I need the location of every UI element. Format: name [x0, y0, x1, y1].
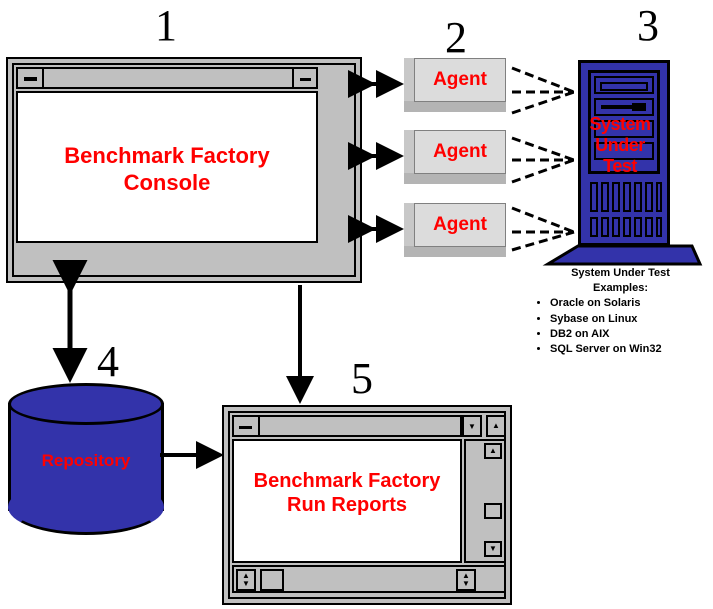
system-under-test-label: System Under Test	[574, 114, 666, 178]
scroll-up-small-icon: ▲	[489, 447, 497, 455]
reports-title-bar[interactable]	[232, 415, 462, 437]
vent-col-2b	[601, 217, 609, 237]
sut-label-line1: System	[574, 114, 666, 135]
console-minimize-button[interactable]	[292, 67, 318, 89]
vent-col-3b	[612, 217, 620, 237]
scroll-left-arrow-icon-2: ▼	[242, 580, 250, 588]
vent-col-7a	[656, 182, 662, 212]
sut-example-item: Oracle on Solaris	[550, 296, 713, 311]
agent-box-3[interactable]: Agent	[404, 203, 506, 257]
reports-dropdown-button[interactable]: ▼	[462, 415, 482, 437]
agent-box-2[interactable]: Agent	[404, 130, 506, 184]
vent-col-2a	[601, 182, 609, 212]
vent-col-1a	[590, 182, 598, 212]
sut-example-item: DB2 on AIX	[550, 327, 713, 342]
agent-1-sut-dashed-links	[512, 68, 574, 113]
reports-system-menu-button[interactable]	[232, 415, 260, 437]
repository-cylinder[interactable]: Repository	[8, 383, 164, 535]
scroll-right-arrow-icon-2: ▼	[462, 580, 470, 588]
repository-bottom-arc	[8, 479, 164, 535]
reports-scroll-up-button[interactable]: ▲	[486, 415, 506, 437]
agent-2-sut-dashed-links	[512, 138, 574, 182]
agent-2-bottom-bevel	[404, 173, 506, 184]
agent-3-sut-dashed-links	[512, 208, 574, 250]
agent-box-1[interactable]: Agent	[404, 58, 506, 112]
chevron-down-icon: ▼	[468, 422, 476, 431]
scroll-up-arrow-icon: ▲	[492, 422, 500, 430]
sut-caption-line2: Examples:	[528, 281, 713, 296]
agent-1-bottom-bevel	[404, 101, 506, 112]
step-number-1: 1	[140, 4, 192, 48]
step-number-2: 2	[430, 16, 482, 60]
reports-horizontal-scrollbar[interactable]: ▲ ▼ ▲ ▼	[232, 565, 506, 593]
reports-caption: Benchmark Factory Run Reports	[232, 469, 462, 518]
sut-label-line3: Test	[574, 156, 666, 177]
console-agent-connectors	[372, 84, 400, 229]
agent-2-label: Agent	[433, 141, 487, 163]
benchmark-factory-run-reports-window[interactable]: ▼ ▲ Benchmark Factory Run Reports ▲ ▼ ▲	[222, 405, 512, 605]
agent-1-label: Agent	[433, 69, 487, 91]
vent-col-5b	[634, 217, 642, 237]
sut-caption-line1: System Under Test	[528, 266, 713, 281]
reports-caption-line1: Benchmark Factory	[232, 469, 462, 493]
vent-col-6b	[645, 217, 653, 237]
console-caption-line2: Console	[16, 170, 318, 197]
vent-col-4a	[623, 182, 631, 212]
hscroll-thumb[interactable]	[260, 569, 284, 591]
step-number-3: 3	[622, 4, 674, 48]
hscroll-left-button[interactable]: ▲ ▼	[236, 569, 256, 591]
step-number-5: 5	[336, 357, 388, 401]
vscroll-down-small-button[interactable]: ▼	[484, 541, 502, 557]
agent-3-bottom-bevel	[404, 246, 506, 257]
console-caption-line1: Benchmark Factory	[16, 143, 318, 170]
vent-col-6a	[645, 182, 653, 212]
system-under-test-server[interactable]: System Under Test	[574, 60, 686, 260]
vent-col-4b	[623, 217, 631, 237]
vent-col-1b	[590, 217, 598, 237]
agent-3-label: Agent	[433, 214, 487, 236]
vent-col-5a	[634, 182, 642, 212]
console-caption: Benchmark Factory Console	[16, 143, 318, 197]
agent-3-face: Agent	[414, 203, 506, 247]
reports-system-menu-dash-icon	[239, 426, 252, 429]
sut-example-item: Sybase on Linux	[550, 312, 713, 327]
agent-1-face: Agent	[414, 58, 506, 102]
benchmark-factory-console-window[interactable]: Benchmark Factory Console	[6, 57, 362, 283]
vscroll-thumb[interactable]	[484, 503, 502, 519]
vent-col-3a	[612, 182, 620, 212]
system-menu-dash-icon	[24, 77, 37, 81]
console-title-bar[interactable]	[16, 67, 318, 89]
minimize-dash-icon	[300, 78, 311, 81]
vscroll-up-small-button[interactable]: ▲	[484, 443, 502, 459]
floppy-eject-icon	[632, 103, 646, 111]
repository-top-ellipse	[8, 383, 164, 425]
reports-vertical-scrollbar[interactable]: ▲ ▼	[464, 439, 506, 563]
sut-caption-block: System Under Test Examples: Oracle on So…	[528, 266, 713, 357]
optical-bay-slot-icon	[600, 82, 648, 91]
sut-label-line2: Under	[574, 135, 666, 156]
repository-label: Repository	[8, 451, 164, 471]
hscroll-right-button[interactable]: ▲ ▼	[456, 569, 476, 591]
scroll-down-small-icon: ▼	[489, 545, 497, 553]
vent-col-7b	[656, 217, 662, 237]
step-number-4: 4	[82, 340, 134, 384]
reports-caption-line2: Run Reports	[232, 493, 462, 517]
diagram-canvas: 1 2 3 4 5 Benchmark Factory Console	[0, 0, 713, 609]
server-optical-bay	[594, 76, 654, 94]
sut-example-item: SQL Server on Win32	[550, 342, 713, 357]
agent-2-face: Agent	[414, 130, 506, 174]
sut-examples-list: Oracle on Solaris Sybase on Linux DB2 on…	[528, 296, 713, 357]
console-system-menu-button[interactable]	[16, 67, 44, 89]
